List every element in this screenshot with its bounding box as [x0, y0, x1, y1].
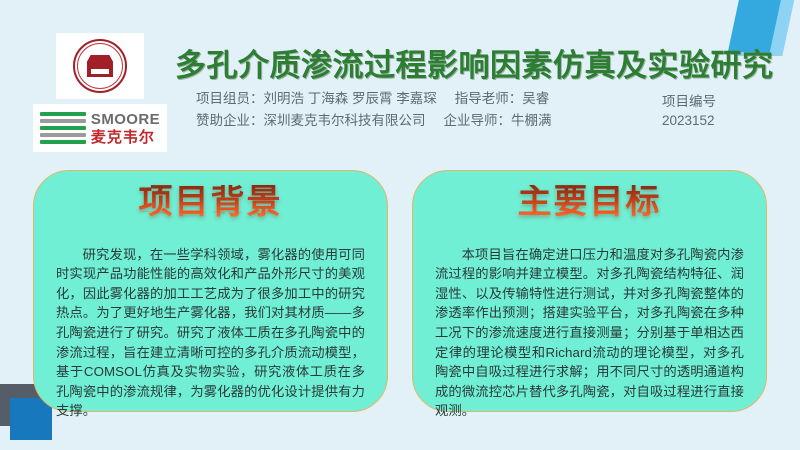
sponsor-label: 赞助企业：	[196, 113, 264, 128]
mentor-value: 牛棚满	[511, 113, 552, 128]
sponsor-logo: SMOORE 麦克韦尔	[33, 104, 167, 152]
meta-line-sponsor: 赞助企业：深圳麦克韦尔科技有限公司企业导师：牛棚满	[196, 110, 646, 132]
smoore-bars-icon	[40, 112, 86, 145]
poster-header: SMOORE 麦克韦尔 多孔介质渗流过程影响因素仿真及实验研究 项目组员：刘明浩…	[0, 0, 800, 160]
members-label: 项目组员：	[196, 91, 264, 106]
seal-ring-icon	[73, 39, 127, 93]
panel-background-heading-reflection: 项目背景	[56, 211, 365, 219]
page-title: 多孔介质渗流过程影响因素仿真及实验研究	[175, 40, 775, 85]
meta-line-members: 项目组员：刘明浩 丁海森 罗辰霄 李嘉琛指导老师：吴睿	[196, 88, 646, 110]
advisor-value: 吴睿	[522, 91, 549, 106]
sponsor-logo-name-en: SMOORE	[91, 112, 160, 127]
decor-square-blue	[10, 398, 52, 440]
advisor-label: 指导老师：	[455, 91, 523, 106]
panel-main-objectives: 主要目标 主要目标 本项目旨在确定进口压力和温度对多孔陶瓷内渗流过程的影响并建立…	[412, 170, 767, 412]
members-value: 刘明浩 丁海森 罗辰霄 李嘉琛	[264, 91, 437, 106]
poster-meta: 项目组员：刘明浩 丁海森 罗辰霄 李嘉琛指导老师：吴睿 赞助企业：深圳麦克韦尔科…	[196, 88, 646, 132]
sponsor-logo-name-cn: 麦克韦尔	[91, 130, 160, 145]
panel-project-background: 项目背景 项目背景 研究发现，在一些学科领域，雾化器的使用可同时实现产品功能性能…	[33, 170, 388, 412]
sponsor-value: 深圳麦克韦尔科技有限公司	[264, 113, 426, 128]
seal-emblem-icon	[87, 55, 113, 77]
panel-background-body: 研究发现，在一些学科领域，雾化器的使用可同时实现产品功能性能的高效化和产品外形尺…	[56, 245, 365, 421]
panel-objectives-heading-reflection: 主要目标	[435, 211, 744, 219]
project-number-value: 2023152	[662, 111, 716, 130]
university-seal-logo	[56, 33, 144, 99]
panel-objectives-body: 本项目旨在确定进口压力和温度对多孔陶瓷内渗流过程的影响并建立模型。对多孔陶瓷结构…	[435, 245, 744, 421]
project-number-label: 项目编号	[662, 92, 716, 111]
mentor-label: 企业导师：	[444, 113, 512, 128]
project-number: 项目编号 2023152	[662, 92, 716, 130]
